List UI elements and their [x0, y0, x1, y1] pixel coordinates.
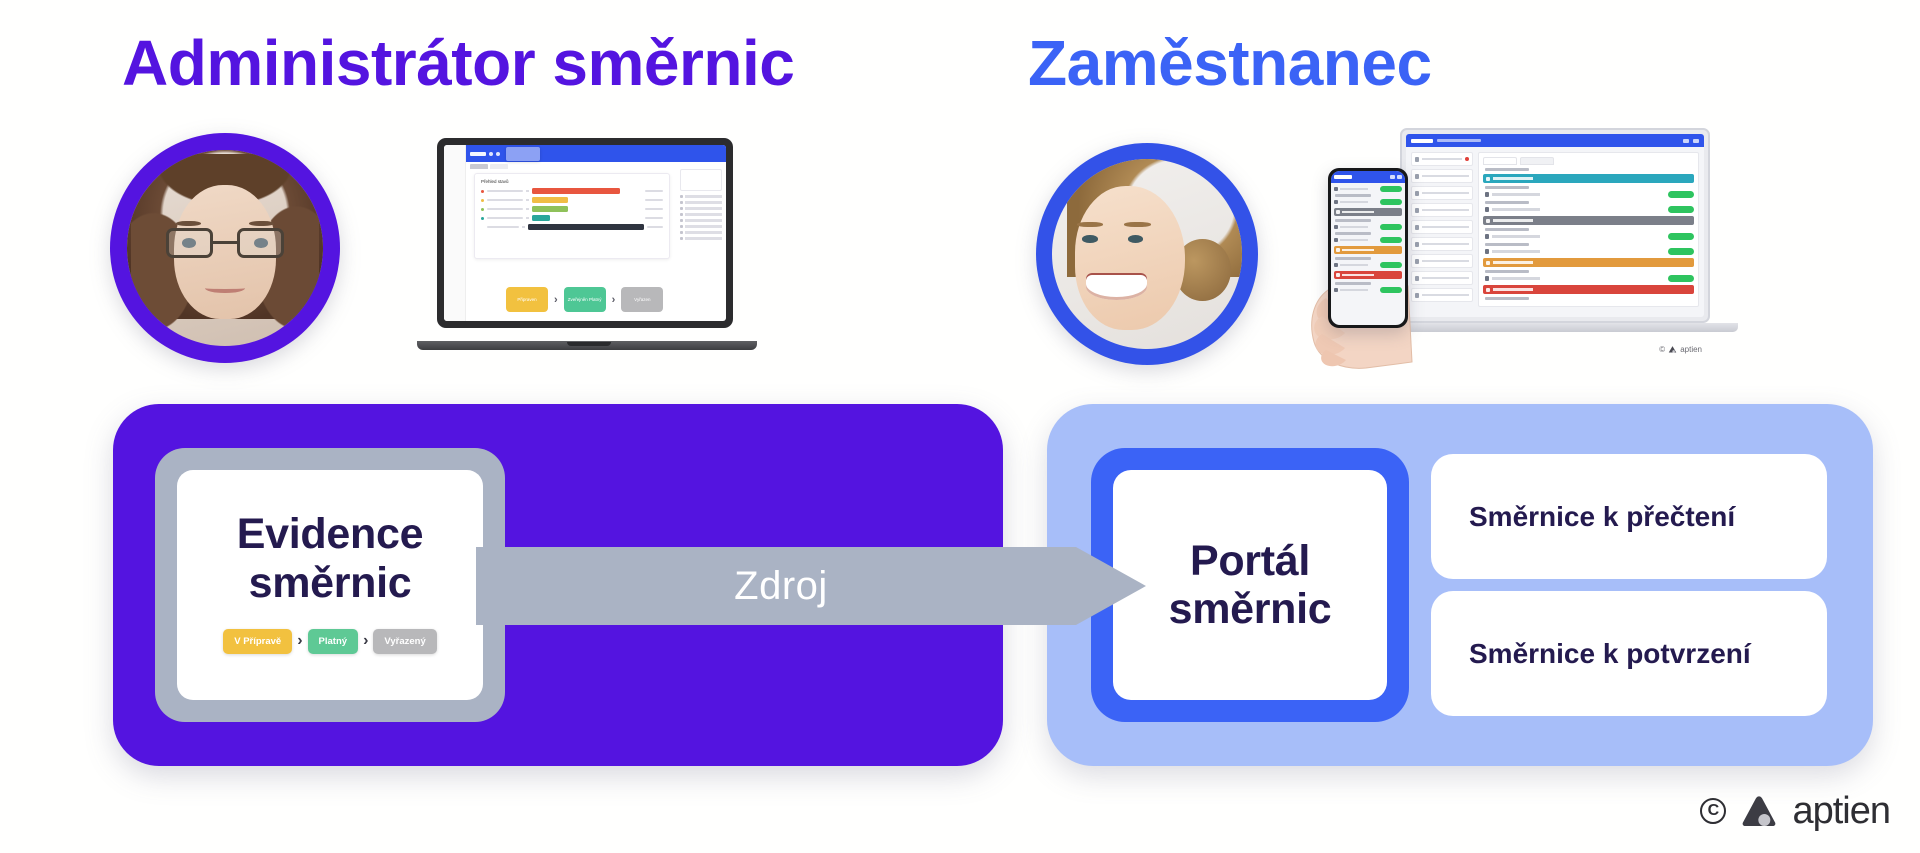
- portal-title: Portál směrnic: [1169, 537, 1332, 633]
- footer-logo: C aptien: [1700, 791, 1890, 831]
- portal-topbar: [1406, 134, 1704, 147]
- phone-section-3: [1334, 271, 1402, 279]
- phone-topbar: [1331, 171, 1405, 183]
- portal-section-4: [1483, 285, 1694, 294]
- portal-title-placeholder: [1437, 139, 1481, 142]
- status-badge: [1668, 275, 1694, 282]
- avatar-admin: [110, 133, 340, 363]
- device-phone-viewport: [1331, 171, 1405, 325]
- chevron-right-icon: ›: [297, 633, 302, 649]
- eye-left: [1082, 235, 1097, 243]
- status-pill-retired[interactable]: Vyřazený: [373, 629, 436, 654]
- laptop-notch: [567, 342, 611, 346]
- employee-item-confirm[interactable]: Směrnice k potvrzení: [1431, 591, 1827, 716]
- aptien-logo-icon: [1411, 139, 1433, 143]
- portal-section-2: [1483, 216, 1694, 225]
- heading-admin: Administrátor směrnic: [122, 26, 794, 100]
- status-badge: [1668, 206, 1694, 213]
- status-badge: [1668, 233, 1694, 240]
- portal-box: Portál směrnic: [1113, 470, 1387, 700]
- evidence-title-line1: Evidence: [237, 510, 423, 558]
- mock-workflow: Připraven › Zveřejněn Platný › Vyřazen: [506, 287, 663, 312]
- status-pill-draft[interactable]: V Přípravě: [223, 629, 292, 654]
- face-shape: [1075, 186, 1185, 330]
- status-badge: [1380, 262, 1402, 268]
- chevron-right-icon: ›: [363, 633, 368, 649]
- aptien-mark-icon: [1739, 791, 1779, 831]
- mock-stats-card: Přehled stavů: [474, 173, 670, 259]
- employee-item-list: Směrnice k přečtení Směrnice k potvrzení: [1431, 454, 1827, 716]
- gear-icon: [1397, 175, 1402, 179]
- device-phone: [1328, 168, 1408, 328]
- mock-main: Směrnice a náhled dokumentů Přehled stav…: [466, 145, 726, 321]
- evidence-frame: Evidence směrnic V Přípravě › Platný › V…: [155, 448, 505, 722]
- portal-main: [1478, 152, 1699, 307]
- status-badge: [1380, 237, 1402, 243]
- eyebrow-right: [1124, 222, 1151, 228]
- avatar-employee-photo: [1052, 159, 1242, 349]
- gear-icon: [1693, 139, 1699, 143]
- status-badge: [1380, 186, 1402, 192]
- device-brand-text: aptien: [1680, 345, 1702, 354]
- status-pill-group: V Přípravě › Platný › Vyřazený: [223, 629, 437, 654]
- copyright-icon: C: [1700, 798, 1726, 824]
- smile-shape: [1086, 273, 1147, 300]
- employee-item-read[interactable]: Směrnice k přečtení: [1431, 454, 1827, 579]
- portal-body: [1406, 147, 1704, 312]
- card-employee: Portál směrnic Směrnice k přečtení Směrn…: [1047, 404, 1873, 766]
- arrow-label: Zdroj: [476, 547, 1086, 625]
- phone-section-1: [1334, 208, 1402, 216]
- aptien-mark-icon: [1668, 345, 1677, 354]
- aptien-logo-icon: [1334, 175, 1352, 179]
- mock-panel-title: Přehled stavů: [481, 179, 663, 184]
- device-footer-brand: © aptien: [1659, 345, 1702, 354]
- laptop-admin-mockup: Směrnice a náhled dokumentů Přehled stav…: [417, 138, 757, 350]
- avatar-admin-photo: [127, 150, 323, 346]
- status-badge: [1668, 248, 1694, 255]
- evidence-title-line2: směrnic: [237, 559, 423, 607]
- portal-section-3: [1483, 258, 1694, 267]
- avatar-employee: [1036, 143, 1258, 365]
- phone-section-2: [1334, 246, 1402, 254]
- notification-dot: [1465, 157, 1469, 161]
- status-badge: [1668, 191, 1694, 198]
- status-badge: [1380, 199, 1402, 205]
- glasses-icon: [166, 228, 284, 257]
- aptien-wordmark: aptien: [1792, 792, 1890, 830]
- mock-right-panel: [680, 169, 722, 243]
- mock-sidebar: [444, 145, 466, 321]
- mouth-shape: [205, 283, 244, 293]
- heading-employee: Zaměstnanec: [1028, 26, 1432, 100]
- portal-title-line1: Portál: [1169, 537, 1332, 585]
- infographic-canvas: Administrátor směrnic Zaměstnanec: [0, 0, 1920, 853]
- laptop-screen: Směrnice a náhled dokumentů Přehled stav…: [437, 138, 733, 328]
- arrow-zdroj: Zdroj: [476, 547, 1146, 625]
- mock-flow-retired: Vyřazen: [621, 287, 663, 312]
- chevron-right-icon: ›: [554, 294, 558, 306]
- eye-right: [1128, 235, 1143, 243]
- device-laptop: [1400, 128, 1710, 323]
- mock-aptien-logo: [470, 152, 486, 156]
- mock-flow-draft: Připraven: [506, 287, 548, 312]
- status-badge: [1380, 287, 1402, 293]
- evidence-title: Evidence směrnic: [237, 510, 423, 606]
- copyright-icon: ©: [1659, 345, 1665, 354]
- phone-body: [1331, 183, 1405, 298]
- device-laptop-viewport: [1406, 134, 1704, 317]
- mock-topbar: [466, 145, 726, 162]
- mock-flow-valid: Zveřejněn Platný: [564, 287, 606, 312]
- evidence-box: Evidence směrnic V Přípravě › Platný › V…: [177, 470, 483, 700]
- status-pill-valid[interactable]: Platný: [308, 629, 359, 654]
- chevron-right-icon: ›: [612, 294, 616, 306]
- portal-title-line2: směrnic: [1169, 585, 1332, 633]
- laptop-viewport: Směrnice a náhled dokumentů Přehled stav…: [444, 145, 726, 321]
- portal-section-1: [1483, 174, 1694, 183]
- status-badge: [1380, 224, 1402, 230]
- devices-employee-mockup: © aptien: [1290, 120, 1710, 360]
